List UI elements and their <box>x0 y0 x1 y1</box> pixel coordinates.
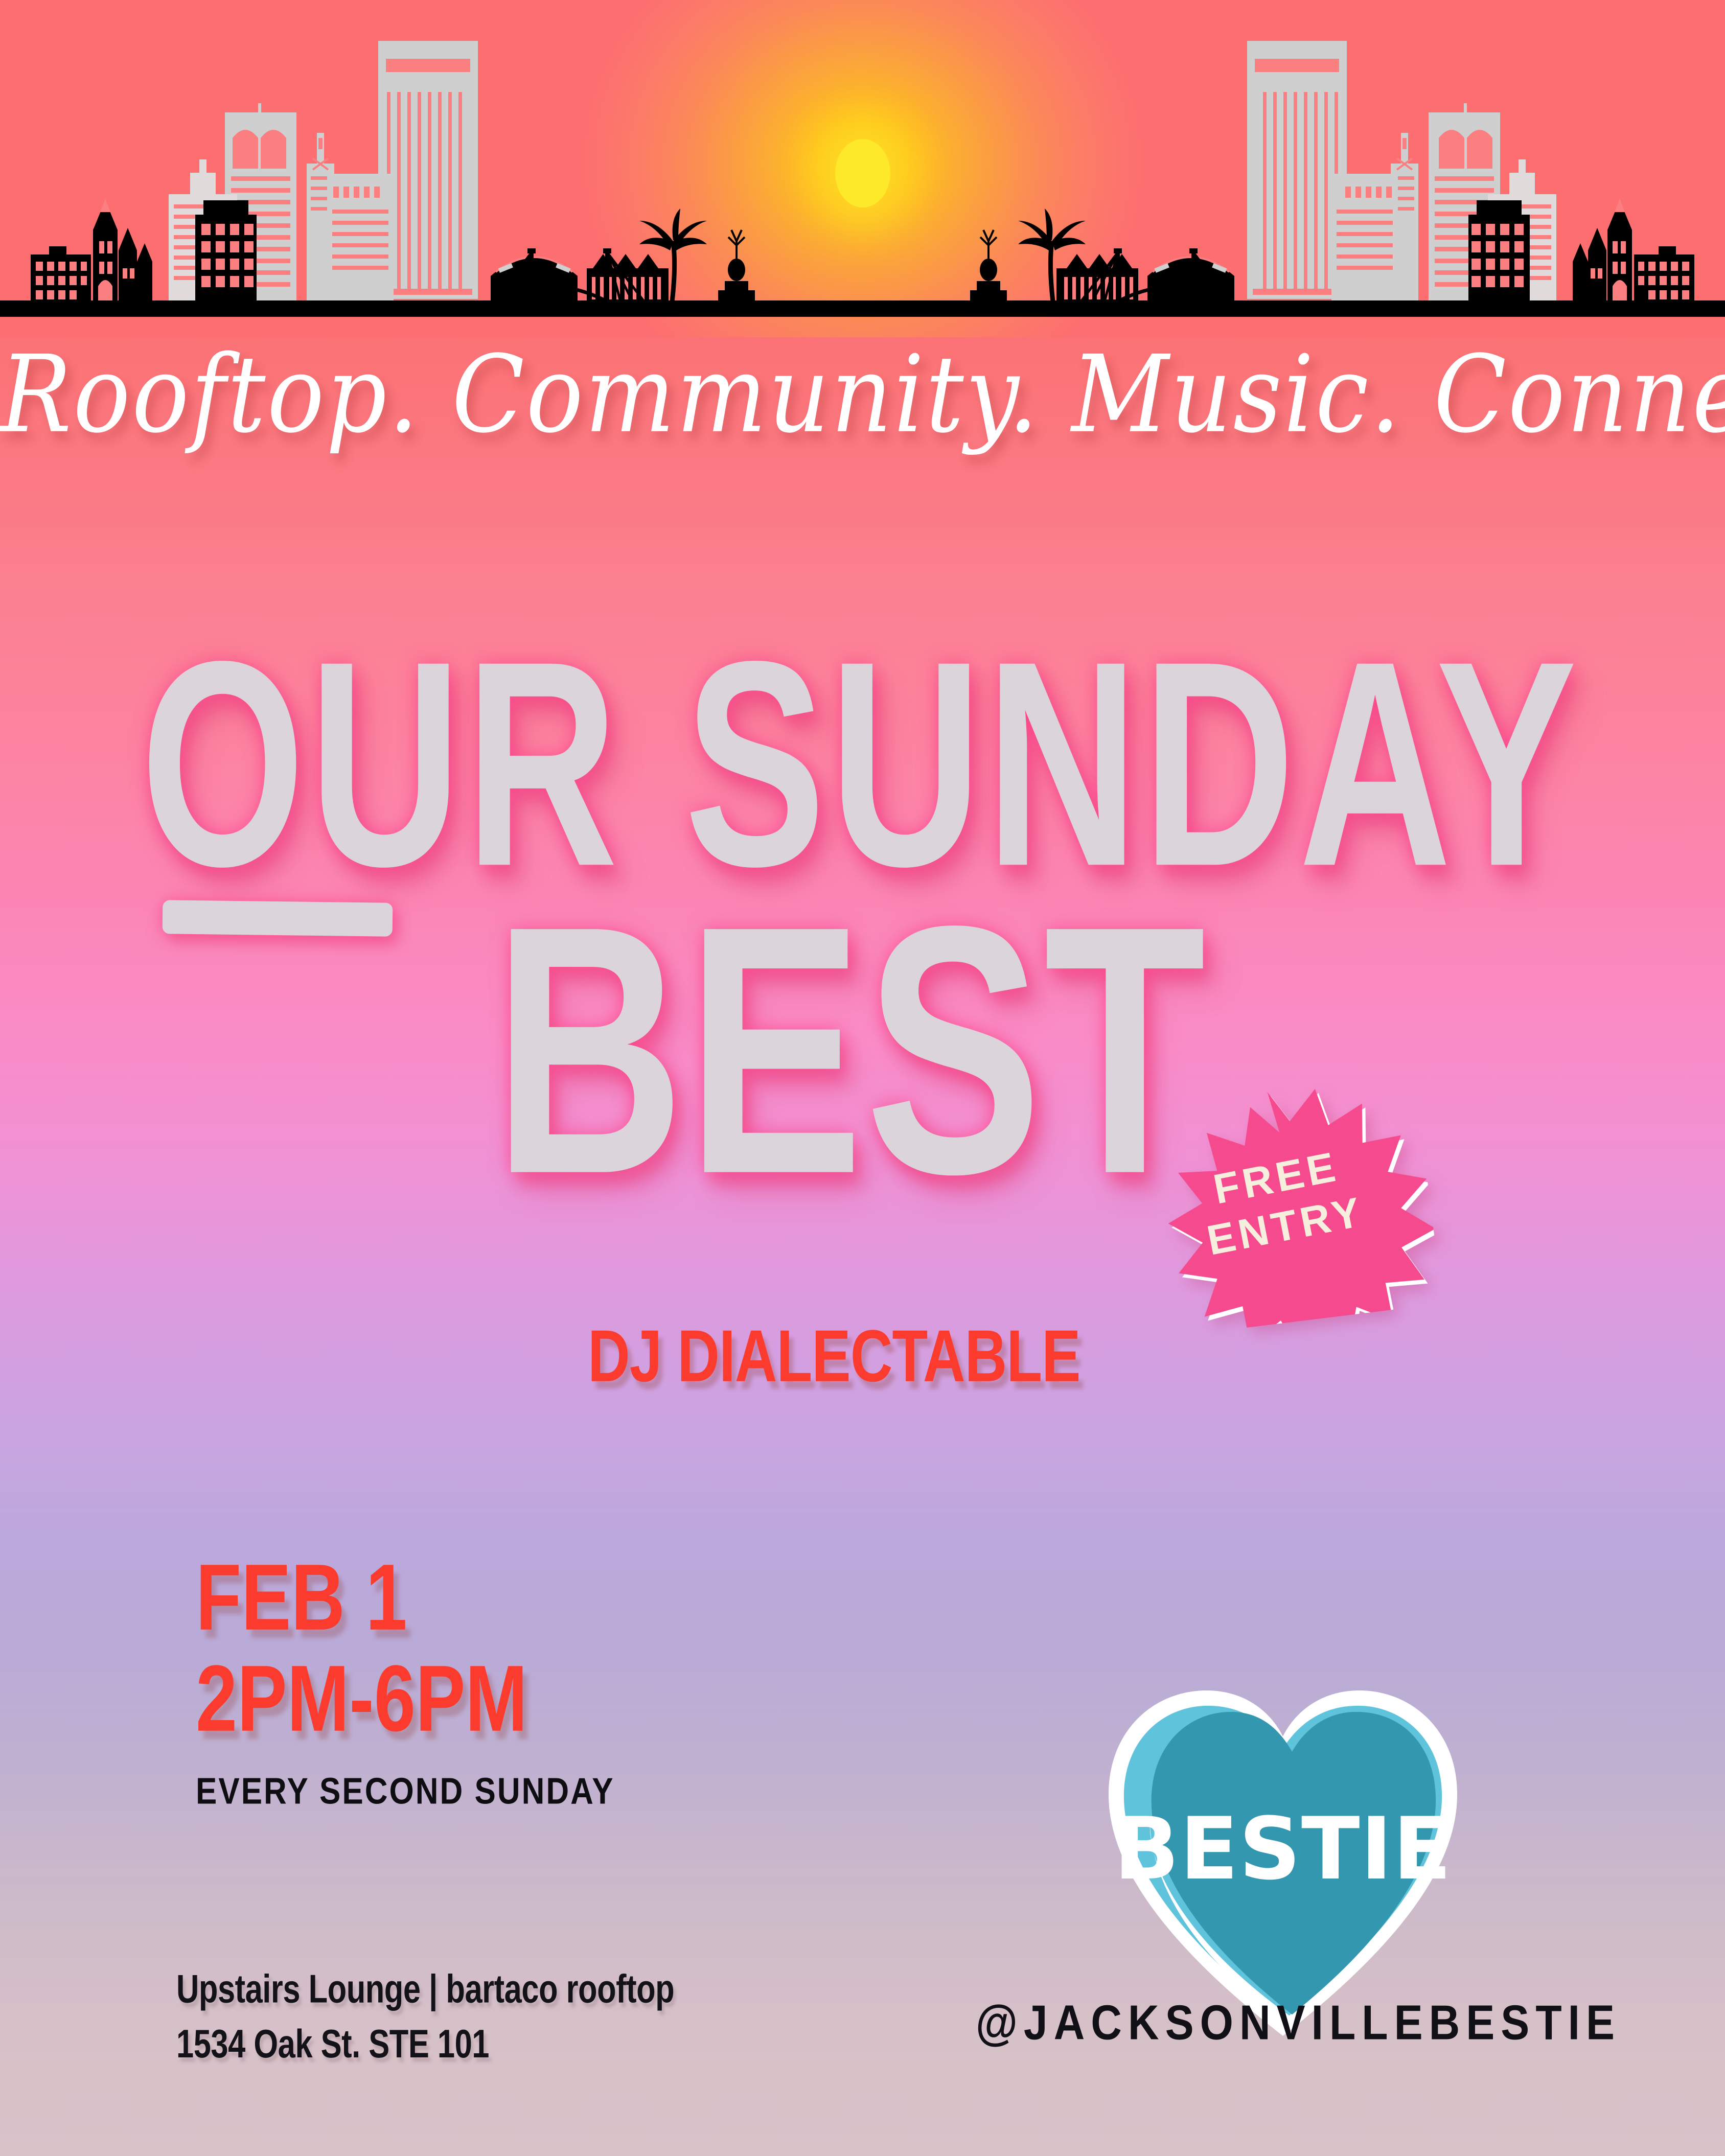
starburst-icon <box>1119 1065 1443 1339</box>
event-flyer: Rooftop. Community. Music. Connection. O… <box>0 0 1725 2156</box>
free-entry-badge: FREE ENTRY <box>1119 1065 1443 1339</box>
social-handle: @JACKSONVILLEBESTIE <box>961 1996 1636 2049</box>
city-skyline-icon <box>0 10 1725 337</box>
performer-name: DJ DIALECTABLE <box>588 1319 1080 1393</box>
venue-street: 1534 Oak St. STE 101 <box>176 2016 674 2071</box>
event-time: 2PM-6PM <box>196 1650 527 1748</box>
tagline: Rooftop. Community. Music. Connection. <box>0 332 1725 456</box>
venue-address: Upstairs Lounge | bartaco rooftop 1534 O… <box>176 1961 674 2071</box>
skyline-banner <box>0 0 1725 337</box>
title-line-2: BEST <box>493 874 1208 1227</box>
event-datetime: FEB 1 2PM-6PM <box>196 1548 527 1727</box>
heart-icon <box>1099 1681 1467 2039</box>
event-recurrence: EVERY SECOND SUNDAY <box>196 1772 615 1812</box>
title-underline-swash <box>163 900 393 936</box>
venue-name: Upstairs Lounge | bartaco rooftop <box>176 1961 674 2016</box>
bestie-logo: BESTIE <box>1099 1681 1467 2039</box>
event-date: FEB 1 <box>196 1548 527 1647</box>
